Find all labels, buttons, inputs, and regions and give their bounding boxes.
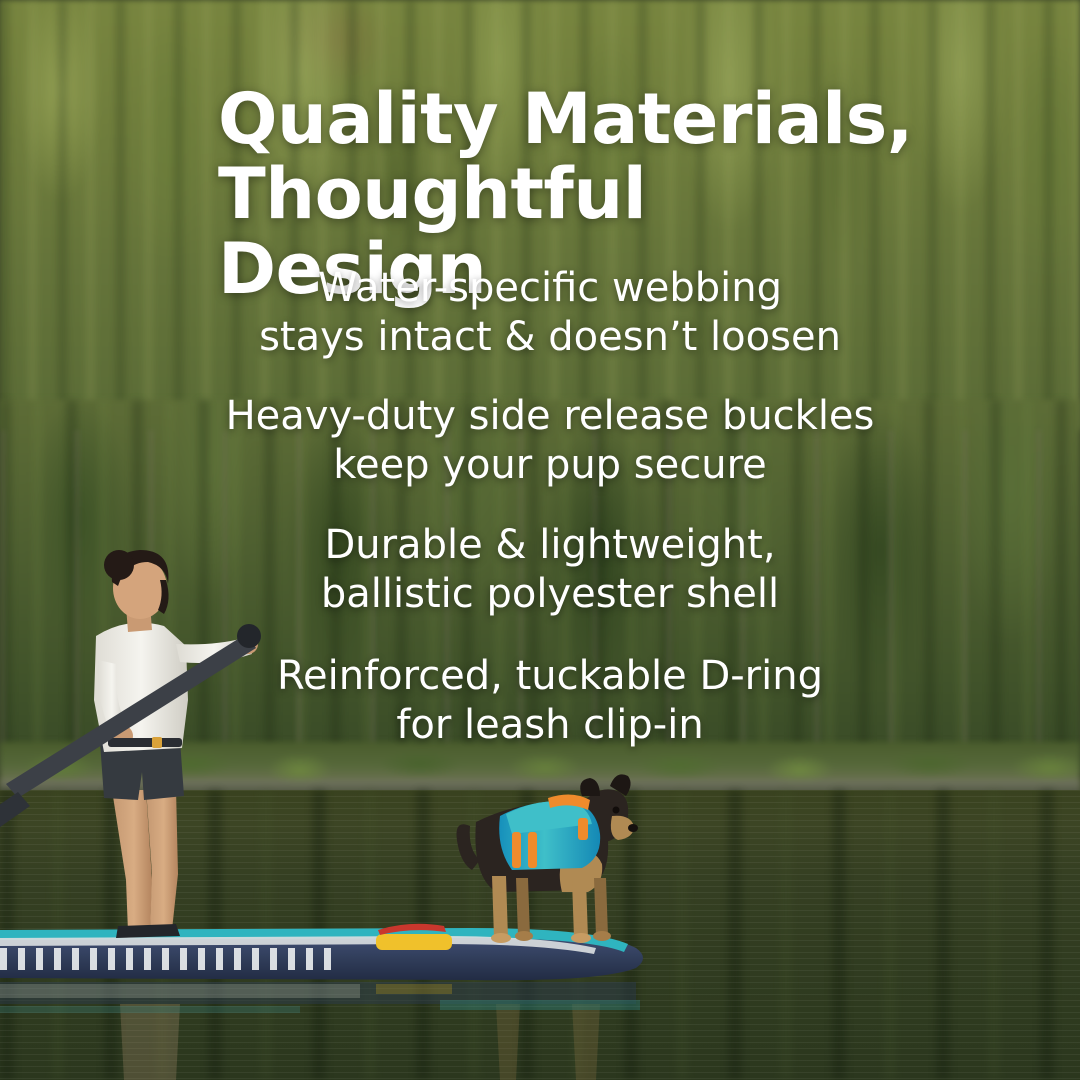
feature-item-webbing: Water-specific webbing stays intact & do…	[140, 264, 960, 362]
feature-line-1: Reinforced, tuckable D-ring	[140, 652, 960, 701]
feature-line-2: stays intact & doesn’t loosen	[140, 313, 960, 362]
feature-line-2: keep your pup secure	[140, 441, 960, 490]
feature-line-1: Water-specific webbing	[140, 264, 960, 313]
feature-line-2: ballistic polyester shell	[140, 570, 960, 619]
feature-line-1: Durable & lightweight,	[140, 521, 960, 570]
feature-item-buckles: Heavy-duty side release buckles keep you…	[140, 392, 960, 490]
headline-line-1: Quality Materials,	[218, 82, 918, 157]
marketing-image: Quality Materials, Thoughtful Design Wat…	[0, 0, 1080, 1080]
text-overlay: Quality Materials, Thoughtful Design Wat…	[0, 0, 1080, 1080]
feature-line-2: for leash clip-in	[140, 701, 960, 750]
feature-item-d-ring: Reinforced, tuckable D-ring for leash cl…	[140, 652, 960, 750]
feature-item-shell: Durable & lightweight, ballistic polyest…	[140, 521, 960, 619]
feature-line-1: Heavy-duty side release buckles	[140, 392, 960, 441]
